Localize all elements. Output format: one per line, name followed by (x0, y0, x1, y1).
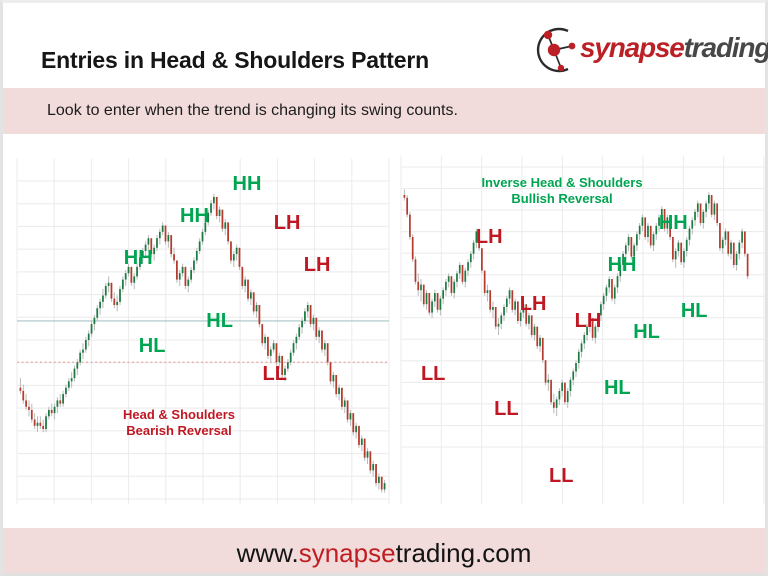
swing-label-ll: LL (263, 364, 287, 384)
swing-label-hh: HH (124, 248, 153, 268)
candle-body-down (495, 307, 497, 327)
candle-body-up (187, 280, 189, 286)
candle-body-up (199, 241, 201, 251)
candle-body-up (464, 271, 466, 282)
candle-body-up (509, 290, 511, 298)
candle-body-up (384, 483, 386, 489)
candle-body-down (241, 267, 243, 286)
candle-body-up (304, 311, 306, 321)
candle-body-up (642, 217, 644, 225)
candle-body-up (534, 327, 536, 335)
swing-label-hh: HH (659, 213, 688, 233)
candle-body-up (500, 315, 502, 323)
candle-body-up (270, 350, 272, 356)
candle-body-up (91, 324, 93, 334)
candle-body-down (321, 330, 323, 349)
candle-body-down (409, 215, 411, 237)
candle-body-down (716, 203, 718, 223)
candle-body-up (125, 273, 127, 279)
candle-body-down (111, 283, 113, 299)
chart-caption-line2: Bearish Reversal (59, 423, 299, 439)
candle-body-up (697, 203, 699, 211)
candle-body-down (744, 231, 746, 253)
candle-body-up (736, 254, 738, 265)
candle-body-down (423, 285, 425, 305)
candle-body-up (290, 353, 292, 363)
candle-body-down (28, 407, 30, 410)
candle-body-down (536, 327, 538, 347)
candle-body-down (230, 241, 232, 260)
candle-body-up (148, 238, 150, 244)
swing-label-lh: LH (304, 255, 331, 275)
candle-body-up (583, 335, 585, 343)
candle-body-up (350, 413, 352, 419)
candle-body-up (82, 350, 84, 353)
candle-body-down (42, 426, 44, 429)
candle-body-down (22, 391, 24, 401)
candle-body-up (559, 391, 561, 399)
candle-body-up (202, 232, 204, 242)
candle-body-up (547, 380, 549, 383)
candle-body-up (625, 245, 627, 253)
swing-label-hl: HL (206, 311, 233, 331)
candle-body-up (639, 226, 641, 234)
candle-body-up (561, 383, 563, 391)
candle-body-down (428, 293, 430, 313)
candle-body-up (256, 305, 258, 311)
candle-body-up (355, 426, 357, 432)
swing-label-hh: HH (608, 255, 637, 275)
footer-domain: trading.com (396, 538, 532, 568)
candle-body-up (361, 439, 363, 445)
candle-body-down (247, 280, 249, 299)
candle-body-up (653, 234, 655, 245)
candle-body-up (467, 262, 469, 270)
candle-body-down (481, 248, 483, 270)
candle-body-down (517, 301, 519, 321)
candle-body-up (705, 203, 707, 211)
candle-body-up (606, 287, 608, 295)
swing-label-ll: LL (549, 466, 573, 486)
candle-body-up (725, 231, 727, 239)
candle-body-down (672, 237, 674, 259)
footer-www: www. (237, 538, 299, 568)
candle-body-up (74, 369, 76, 379)
candle-body-up (338, 388, 340, 394)
candle-body-up (76, 362, 78, 368)
candle-body-up (88, 334, 90, 340)
candle-body-down (364, 439, 366, 458)
logo-word-trading: trading (684, 32, 768, 63)
candle-body-up (614, 287, 616, 298)
candle-body-up (683, 251, 685, 262)
slide-canvas: Entries in Head & Shoulders Pattern syna… (0, 0, 768, 576)
candle-body-up (287, 362, 289, 368)
candle-body-up (603, 296, 605, 304)
candle-body-up (539, 338, 541, 346)
chart-inverse-head-and-shoulders-bullish: LLLHLLLHLLLHHLHHHLHHHLInverse Head & Sho… (399, 153, 765, 505)
candle-body-up (71, 378, 73, 381)
candle-body-up (133, 276, 135, 282)
swing-label-lh: LH (575, 311, 602, 331)
candle-body-down (462, 265, 464, 282)
candle-body-up (153, 248, 155, 254)
candle-body-up (487, 290, 489, 293)
swing-label-lh: LH (476, 227, 503, 247)
candle-body-up (105, 286, 107, 296)
candle-body-up (378, 477, 380, 483)
candle-body-up (431, 301, 433, 312)
candle-body-down (553, 402, 555, 408)
candle-body-up (65, 388, 67, 394)
candle-body-down (611, 279, 613, 299)
candle-body-up (68, 381, 70, 387)
candle-body-up (45, 416, 47, 429)
candle-body-up (459, 265, 461, 273)
candle-body-up (506, 299, 508, 307)
chart-caption-line1: Inverse Head & Shoulders (442, 175, 682, 191)
candle-body-up (182, 267, 184, 273)
candle-body-up (37, 423, 39, 426)
chart-caption: Inverse Head & ShouldersBullish Reversal (442, 175, 682, 208)
candle-body-down (484, 271, 486, 293)
chart-caption-line2: Bullish Reversal (442, 191, 682, 207)
candle-body-up (301, 321, 303, 327)
candle-body-up (213, 197, 215, 203)
candle-body-up (159, 232, 161, 238)
candle-body-down (216, 197, 218, 216)
candle-body-down (113, 299, 115, 305)
candle-body-down (227, 222, 229, 241)
candle-body-up (264, 337, 266, 343)
candle-body-down (412, 237, 414, 259)
candle-body-up (492, 307, 494, 310)
candle-body-down (727, 231, 729, 253)
candle-body-up (714, 203, 716, 214)
candle-body-up (85, 340, 87, 350)
chart-head-and-shoulders-bearish: HHHHHHLHLHHLHLLLHead & ShouldersBearish … (15, 153, 390, 505)
candle-body-down (327, 343, 329, 362)
candle-body-up (313, 318, 315, 324)
candle-body-up (608, 279, 610, 287)
candle-body-up (617, 276, 619, 287)
swing-label-hl: HL (633, 322, 660, 342)
candle-body-up (278, 356, 280, 362)
candle-body-up (702, 212, 704, 223)
swing-label-ll: LL (421, 364, 445, 384)
candle-body-up (179, 273, 181, 279)
candle-body-up (372, 464, 374, 470)
candle-body-up (722, 240, 724, 248)
candle-body-down (335, 375, 337, 394)
candle-body-up (57, 400, 59, 406)
candle-body-down (222, 210, 224, 229)
candle-body-up (420, 285, 422, 291)
candle-body-down (711, 195, 713, 215)
candle-body-down (747, 254, 749, 276)
candle-body-up (689, 229, 691, 240)
candle-body-up (456, 273, 458, 281)
candle-body-up (54, 407, 56, 413)
candle-body-down (375, 464, 377, 483)
candle-body-up (318, 330, 320, 336)
candle-body-down (352, 413, 354, 432)
candle-body-up (572, 371, 574, 379)
candle-body-up (344, 400, 346, 406)
candle-body-down (130, 267, 132, 283)
candle-body-down (239, 248, 241, 267)
candle-body-up (738, 243, 740, 254)
candle-body-up (655, 226, 657, 234)
candle-body-down (489, 290, 491, 310)
candle-body-up (445, 282, 447, 290)
candle-body-up (332, 375, 334, 381)
candle-body-down (347, 400, 349, 419)
candle-body-up (156, 238, 158, 248)
candle-body-down (531, 315, 533, 335)
candle-body-down (700, 203, 702, 223)
candle-body-up (99, 302, 101, 308)
candle-body-down (719, 223, 721, 248)
chart-caption: Head & ShouldersBearish Reversal (59, 407, 299, 440)
candle-body-up (96, 308, 98, 318)
candle-body-down (261, 324, 263, 343)
candle-body-up (162, 226, 164, 232)
candle-body-down (437, 293, 439, 310)
candle-body-down (39, 423, 41, 426)
candle-body-down (341, 388, 343, 407)
candle-body-up (167, 235, 169, 241)
candle-body-down (406, 198, 408, 215)
candle-body-up (116, 302, 118, 305)
candle-body-down (680, 243, 682, 263)
candle-body-up (514, 301, 516, 309)
candle-body-down (185, 267, 187, 286)
candle-body-up (440, 299, 442, 310)
candle-body-up (503, 307, 505, 315)
page-title: Entries in Head & Shoulders Pattern (41, 47, 429, 74)
footer-website[interactable]: www.synapsetrading.com (3, 538, 765, 569)
candle-body-up (741, 231, 743, 242)
candle-body-up (273, 343, 275, 349)
candle-body-down (564, 383, 566, 403)
candle-body-up (219, 210, 221, 216)
candle-body-up (575, 363, 577, 371)
candle-body-up (730, 243, 732, 254)
candle-body-down (369, 451, 371, 470)
candle-body-up (528, 315, 530, 323)
candle-body-up (442, 290, 444, 298)
candle-body-up (694, 212, 696, 220)
candle-body-up (236, 248, 238, 254)
candle-body-up (193, 261, 195, 271)
candle-body-up (233, 254, 235, 260)
candle-body-up (307, 305, 309, 311)
swing-label-hh: HH (233, 174, 262, 194)
candle-body-up (567, 391, 569, 402)
candle-body-down (415, 259, 417, 281)
candle-body-up (108, 283, 110, 286)
brand-logo[interactable]: synapsetrading (528, 23, 743, 77)
candle-body-up (581, 343, 583, 351)
candle-body-down (176, 261, 178, 280)
candle-body-up (293, 343, 295, 353)
candle-body-down (20, 388, 22, 391)
candle-body-down (417, 282, 419, 290)
candle-body-up (453, 282, 455, 293)
candle-body-down (31, 410, 33, 420)
candle-body-up (448, 276, 450, 282)
candle-body-down (310, 305, 312, 324)
candle-body-down (650, 226, 652, 246)
swing-label-hl: HL (139, 336, 166, 356)
candle-body-down (381, 477, 383, 490)
candle-body-down (511, 290, 513, 310)
candle-body-up (498, 324, 500, 327)
candle-body-up (675, 251, 677, 259)
subtitle-text: Look to enter when the trend is changing… (47, 102, 458, 120)
candle-body-down (550, 380, 552, 402)
swing-label-lh: LH (520, 294, 547, 314)
candle-body-up (244, 280, 246, 286)
swing-label-ll: LL (494, 399, 518, 419)
swing-label-hl: HL (604, 378, 631, 398)
swing-label-lh: LH (274, 213, 301, 233)
candle-body-up (324, 343, 326, 349)
candle-body-down (25, 400, 27, 406)
candle-body-up (62, 394, 64, 404)
candle-body-up (636, 234, 638, 245)
candle-body-down (404, 195, 406, 198)
swing-label-hh: HH (180, 206, 209, 226)
candle-body-up (94, 318, 96, 324)
candle-body-up (678, 243, 680, 251)
swing-label-hl: HL (681, 301, 708, 321)
candle-body-up (556, 399, 558, 407)
candle-body-up (628, 237, 630, 245)
candle-body-down (34, 420, 36, 426)
candle-body-up (48, 410, 50, 416)
candle-body-up (298, 327, 300, 337)
candle-body-up (470, 254, 472, 262)
candle-body-down (330, 362, 332, 381)
candle-body-down (267, 337, 269, 356)
candle-body-up (210, 203, 212, 213)
candle-body-up (578, 352, 580, 363)
candle-body-up (122, 280, 124, 290)
candle-body-up (190, 270, 192, 280)
candle-body-up (296, 337, 298, 343)
candle-body-up (647, 226, 649, 237)
slide-header: Entries in Head & Shoulders Pattern syna… (3, 3, 765, 85)
candle-body-down (542, 338, 544, 360)
candle-body-up (250, 292, 252, 298)
candle-body-up (691, 220, 693, 228)
candle-body-down (170, 235, 172, 254)
candle-body-down (545, 360, 547, 382)
logo-wordmark: synapsetrading (580, 32, 768, 64)
candle-body-up (224, 222, 226, 228)
candle-body-down (276, 343, 278, 362)
footer-brand: synapse (299, 538, 396, 568)
candle-body-down (733, 243, 735, 265)
candle-body-down (51, 410, 53, 413)
candle-body-down (59, 400, 61, 403)
chart-caption-line1: Head & Shoulders (59, 407, 299, 423)
logo-word-synapse: synapse (580, 32, 684, 63)
candle-body-up (426, 293, 428, 304)
candle-body-up (686, 240, 688, 251)
candle-body-up (434, 293, 436, 301)
candle-body-down (315, 318, 317, 337)
candle-body-down (451, 276, 453, 293)
candle-body-up (196, 251, 198, 261)
candle-body-up (708, 195, 710, 203)
candle-body-up (102, 295, 104, 301)
candle-body-down (358, 426, 360, 445)
synapse-neuron-icon (528, 25, 586, 75)
candle-body-down (259, 305, 261, 324)
candle-body-up (119, 289, 121, 302)
candle-body-up (79, 353, 81, 363)
candle-body-up (473, 243, 475, 254)
candle-body-down (165, 226, 167, 242)
candle-body-up (367, 451, 369, 457)
candle-body-down (644, 217, 646, 237)
candle-body-down (173, 254, 175, 260)
candle-body-up (570, 380, 572, 391)
candle-body-down (253, 292, 255, 311)
